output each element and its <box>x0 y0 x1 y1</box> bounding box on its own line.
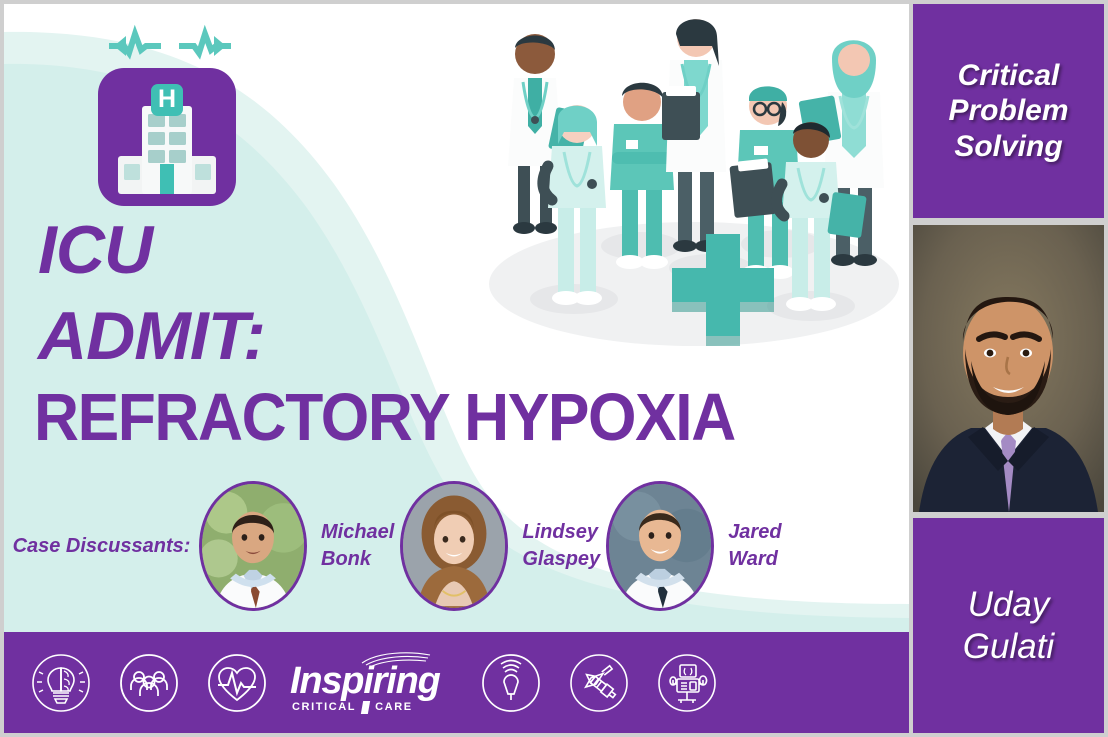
logo-subtitle: CRITICAL CARE <box>290 701 438 714</box>
discussant-item: Michael Bonk <box>199 481 394 611</box>
logo-sub-critical: CRITICAL <box>292 701 356 713</box>
discussants-label: Case Discussants: <box>4 533 199 560</box>
arrow-left-head <box>114 36 126 56</box>
hospital-building-icon: H <box>98 68 236 206</box>
heart-ekg-icon[interactable] <box>206 652 268 714</box>
arrow-right-head <box>214 36 226 56</box>
series-title-text: Critical Problem Solving <box>948 58 1068 163</box>
discussant-name: Jared Ward <box>728 519 781 573</box>
hospital-icon-group: H <box>92 22 252 212</box>
discussant-item: Jared Ward <box>606 481 781 611</box>
right-column: Critical Problem Solving <box>913 4 1104 733</box>
ventilator-monitor-icon[interactable] <box>656 652 718 714</box>
logo-word: Inspiring <box>290 662 438 700</box>
discussant-name: Lindsey Glaspey <box>522 519 600 573</box>
portrait-michael-bonk <box>199 481 307 611</box>
ekg-arrows-icon <box>100 22 240 68</box>
svg-text:H: H <box>158 85 176 113</box>
presenter-name-panel: Uday Gulati <box>913 518 1104 733</box>
inspiring-critical-care-logo: Inspiring CRITICAL CARE <box>290 652 438 714</box>
title-line-main: REFRACTORY HYPOXIA <box>34 384 834 451</box>
series-title-panel: Critical Problem Solving <box>913 4 1104 218</box>
ultrasound-probe-icon[interactable] <box>480 652 542 714</box>
portrait-jared-ward <box>606 481 714 611</box>
logo-divider <box>361 701 370 714</box>
discussant-item: Lindsey Glaspey <box>400 481 600 611</box>
portrait-uday-gulati <box>913 225 1104 512</box>
lightbulb-brain-icon[interactable] <box>30 652 92 714</box>
presenter-name-text: Uday Gulati <box>963 584 1054 667</box>
title-block: ICU ADMIT: REFRACTORY HYPOXIA <box>34 216 894 451</box>
discussant-name: Michael Bonk <box>321 519 394 573</box>
title-line-admit: ADMIT: <box>38 302 894 370</box>
main-panel: H <box>4 4 909 733</box>
logo-swoosh <box>360 650 432 666</box>
brand-bar: Inspiring CRITICAL CARE <box>4 632 909 733</box>
portrait-lindsey-glaspey <box>400 481 508 611</box>
slide-canvas: H <box>0 0 1108 737</box>
logo-sub-care: CARE <box>375 701 413 713</box>
scalpel-syringe-icon[interactable] <box>568 652 630 714</box>
people-group-icon[interactable] <box>118 652 180 714</box>
hospital-icon-tile: H <box>98 68 236 206</box>
discussants-row: Case Discussants: <box>4 466 909 626</box>
title-line-icu: ICU <box>38 216 894 284</box>
